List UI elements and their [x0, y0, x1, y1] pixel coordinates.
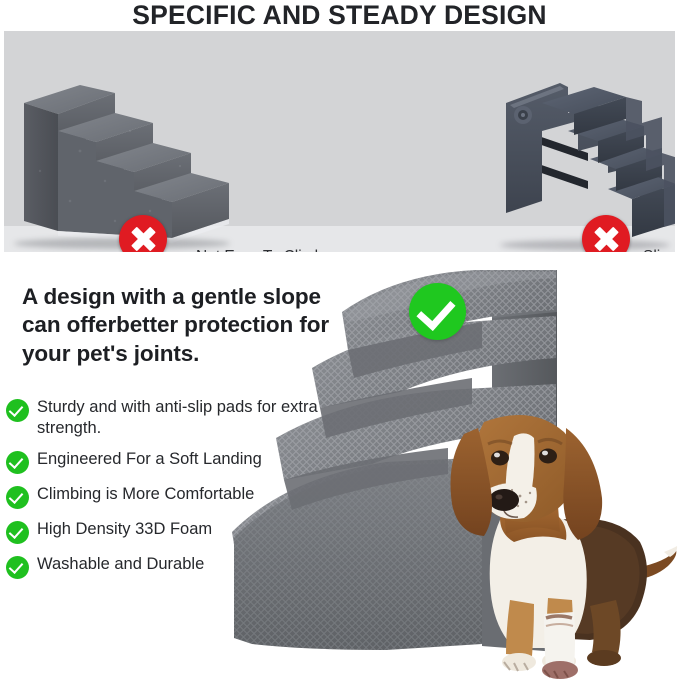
feature-label: High Density 33D Foam — [37, 519, 212, 540]
beagle-dog-illustration — [440, 400, 679, 679]
title-bar: SPECIFIC AND STEADY DESIGN — [0, 0, 679, 30]
list-item: Engineered For a Soft Landing — [6, 449, 336, 474]
comparison-label-1: Not Easy To Climb — [196, 249, 323, 252]
page-title: SPECIFIC AND STEADY DESIGN — [132, 2, 547, 29]
check-mark-icon — [6, 556, 29, 579]
list-item: High Density 33D Foam — [6, 519, 336, 544]
dog-photo — [440, 400, 679, 679]
comparison-item-foam-stairs: Not Easy To Climb — [4, 31, 242, 252]
product-infographic: SPECIFIC AND STEADY DESIGN — [0, 0, 679, 679]
hero-headline: A design with a gentle slope can offerbe… — [22, 283, 352, 368]
feature-label: Engineered For a Soft Landing — [37, 449, 262, 470]
feature-label: Washable and Durable — [37, 554, 204, 575]
list-item: Climbing is More Comfortable — [6, 484, 336, 509]
list-item: Sturdy and with anti-slip pads for extra… — [6, 397, 336, 439]
comparison-label-2: Slippery Easy To Fall — [643, 249, 675, 252]
check-mark-icon — [6, 451, 29, 474]
check-mark-icon — [6, 521, 29, 544]
comparison-panel: Not Easy To Climb — [4, 31, 675, 252]
comparison-item-wooden-ramp — [450, 31, 675, 252]
hero-section: A design with a gentle slope can offerbe… — [0, 252, 679, 679]
check-mark-icon-hero — [409, 283, 466, 340]
feature-list: Sturdy and with anti-slip pads for extra… — [6, 397, 336, 589]
feature-label: Sturdy and with anti-slip pads for extra… — [37, 397, 336, 439]
list-item: Washable and Durable — [6, 554, 336, 579]
comparison-item-plastic-stairs: Slippery Easy To Fall — [242, 31, 450, 252]
check-mark-icon — [6, 399, 29, 422]
feature-label: Climbing is More Comfortable — [37, 484, 254, 505]
check-mark-icon — [6, 486, 29, 509]
